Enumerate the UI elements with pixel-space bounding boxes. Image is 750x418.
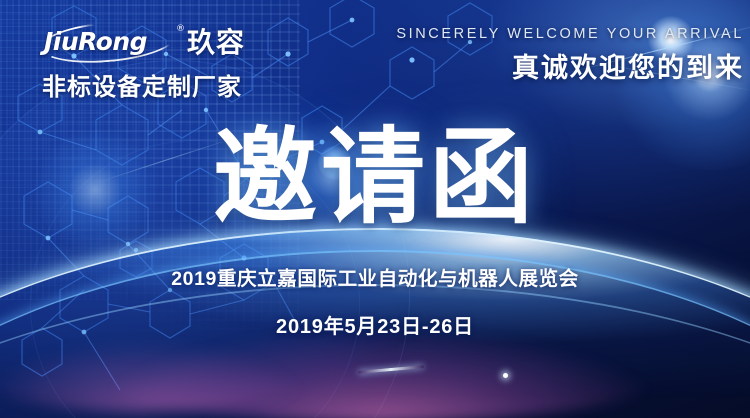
page-title: 邀请函	[0, 126, 750, 230]
brand-name-cn: 玖容	[187, 26, 245, 60]
brand-tagline: 非标设备定制厂家	[42, 67, 247, 102]
welcome-block: SINCERELY WELCOME YOUR ARRIVAL 真诚欢迎您的到来	[396, 26, 744, 85]
invitation-banner: JiuRong ® 玖容 非标设备定制厂家 SINCERELY WELCOME …	[0, 0, 750, 418]
logo-row: JiuRong ® 玖容	[42, 22, 247, 64]
welcome-text-en: SINCERELY WELCOME YOUR ARRIVAL	[396, 26, 744, 42]
jiurong-wordmark-icon: JiuRong	[42, 23, 174, 63]
light-dot-icon	[503, 373, 508, 378]
brand-logo[interactable]: JiuRong ® 玖容 非标设备定制厂家	[42, 22, 247, 102]
event-subtitle: 2019重庆立嘉国际工业自动化与机器人展览会	[0, 262, 750, 291]
welcome-text-cn: 真诚欢迎您的到来	[396, 46, 744, 85]
event-date: 2019年5月23日-26日	[0, 310, 750, 339]
logo-wordmark-text: JiuRong	[44, 25, 147, 59]
registered-trademark-icon: ®	[176, 24, 185, 34]
